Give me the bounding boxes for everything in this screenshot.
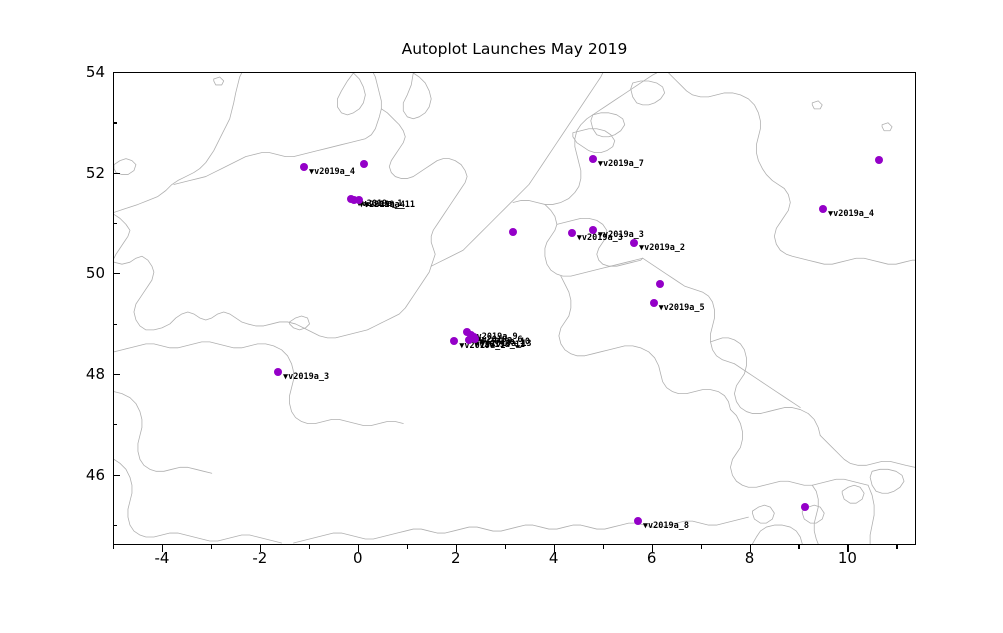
data-point (656, 280, 664, 288)
x-tick-label: 6 (647, 549, 657, 567)
x-minor-tick (309, 545, 310, 549)
x-tick-label: 10 (838, 549, 857, 567)
x-tick-label: 2 (451, 549, 461, 567)
y-minor-tick (113, 122, 117, 123)
x-tick-label: 4 (549, 549, 559, 567)
data-point (875, 156, 883, 164)
x-minor-tick (505, 545, 506, 549)
plot-area[interactable]: ▼v2019a_4▼v2019a_1▼v2019a_4▼v2019a_11▼v2… (113, 72, 916, 545)
data-point (509, 228, 517, 236)
data-point-label: ▼v2019a_7 (598, 159, 644, 169)
data-points-layer: ▼v2019a_4▼v2019a_1▼v2019a_4▼v2019a_11▼v2… (114, 73, 915, 544)
data-point (450, 337, 458, 345)
x-minor-tick (211, 545, 212, 549)
data-point-label: ▼v2019a_11 (364, 200, 415, 210)
data-point (589, 226, 597, 234)
data-point (589, 155, 597, 163)
x-minor-tick (896, 545, 897, 549)
y-tick-label: 52 (105, 164, 124, 182)
x-minor-tick (798, 545, 799, 549)
x-minor-tick (407, 545, 408, 549)
data-point-label: ▼v2019a_4 (309, 167, 355, 177)
data-point (568, 229, 576, 237)
page-title: Autoplot Launches May 2019 (113, 40, 916, 58)
data-point-label: ▼v2019a_8 (643, 521, 689, 531)
y-minor-tick (113, 424, 117, 425)
data-point (300, 163, 308, 171)
x-minor-tick (603, 545, 604, 549)
data-point (360, 160, 368, 168)
data-point (634, 517, 642, 525)
x-tick-label: 0 (353, 549, 363, 567)
x-minor-tick (701, 545, 702, 549)
data-point-label: ▼v2019a_13 (480, 339, 531, 349)
y-tick-label: 54 (105, 63, 124, 81)
data-point-label: ▼v2019a_4 (828, 209, 874, 219)
data-point (274, 368, 282, 376)
data-point-label: ▼v2019a_2 (639, 243, 685, 253)
y-tick-label: 46 (105, 466, 124, 484)
data-point-label: ▼v2019a_5 (659, 303, 705, 313)
y-tick-label: 48 (105, 365, 124, 383)
x-tick-label: 8 (745, 549, 755, 567)
y-minor-tick (113, 525, 117, 526)
data-point (650, 299, 658, 307)
data-point-label: ▼v2019a_3 (598, 230, 644, 240)
data-point (801, 503, 809, 511)
x-tick-label: -4 (154, 549, 169, 567)
y-minor-tick (113, 223, 117, 224)
y-minor-tick (113, 324, 117, 325)
x-minor-tick (113, 545, 114, 549)
y-tick-label: 50 (105, 264, 124, 282)
x-tick-label: -2 (252, 549, 267, 567)
data-point (819, 205, 827, 213)
data-point (630, 239, 638, 247)
figure-canvas: Autoplot Launches May 2019 (0, 0, 1003, 633)
data-point (471, 335, 479, 343)
data-point-label: ▼v2019a_3 (283, 372, 329, 382)
